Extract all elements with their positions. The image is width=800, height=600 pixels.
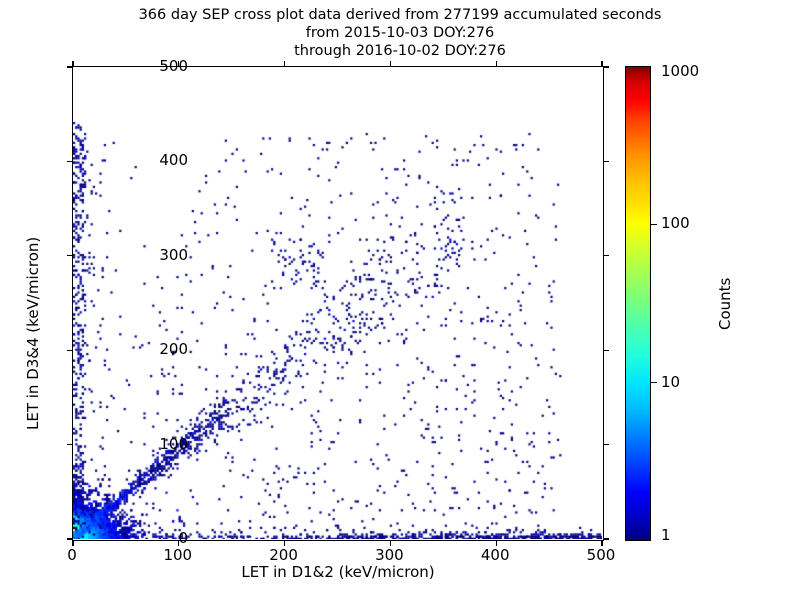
- x-tick-mark: [72, 61, 73, 67]
- colorbar-tick-label: 100: [661, 214, 690, 232]
- x-tick-label: 100: [143, 546, 213, 564]
- y-tick-label: 400: [128, 151, 188, 169]
- y-tick-mark: [603, 255, 609, 256]
- y-tick-mark: [603, 538, 609, 539]
- y-tick-label: 500: [128, 57, 188, 75]
- x-tick-mark: [284, 61, 285, 67]
- y-tick-mark: [603, 161, 609, 162]
- y-tick-mark: [67, 255, 73, 256]
- colorbar-tick-label: 1000: [661, 62, 699, 80]
- y-tick-label: 300: [128, 246, 188, 264]
- x-tick-mark: [496, 61, 497, 67]
- y-tick-mark: [67, 350, 73, 351]
- y-tick-mark: [67, 444, 73, 445]
- plot-area: [72, 66, 604, 541]
- y-tick-label: 0: [128, 529, 188, 547]
- colorbar-gradient: [625, 66, 651, 541]
- x-tick-label: 200: [249, 546, 319, 564]
- colorbar-title: Counts: [716, 278, 734, 330]
- y-tick-mark: [603, 66, 609, 67]
- y-tick-mark: [603, 350, 609, 351]
- x-tick-mark: [390, 61, 391, 67]
- scatter-points-layer: [73, 67, 602, 539]
- colorbar-container: 1101001000: [625, 66, 651, 541]
- x-tick-label: 300: [354, 546, 424, 564]
- x-tick-label: 400: [460, 546, 530, 564]
- x-tick-label: 0: [37, 546, 107, 564]
- y-tick-label: 200: [128, 340, 188, 358]
- y-tick-label: 100: [128, 435, 188, 453]
- chart-title: 366 day SEP cross plot data derived from…: [0, 6, 800, 60]
- y-tick-mark: [67, 161, 73, 162]
- y-tick-mark: [603, 444, 609, 445]
- y-axis-title: LET in D3&4 (keV/micron): [24, 237, 42, 430]
- colorbar-tick-mark: [651, 224, 657, 225]
- x-axis-title: LET in D1&2 (keV/micron): [0, 563, 676, 581]
- colorbar-tick-label: 1: [661, 526, 671, 544]
- colorbar-tick-label: 10: [661, 373, 680, 391]
- x-tick-mark: [601, 61, 602, 67]
- x-tick-label: 500: [566, 546, 636, 564]
- colorbar-tick-mark: [651, 382, 657, 383]
